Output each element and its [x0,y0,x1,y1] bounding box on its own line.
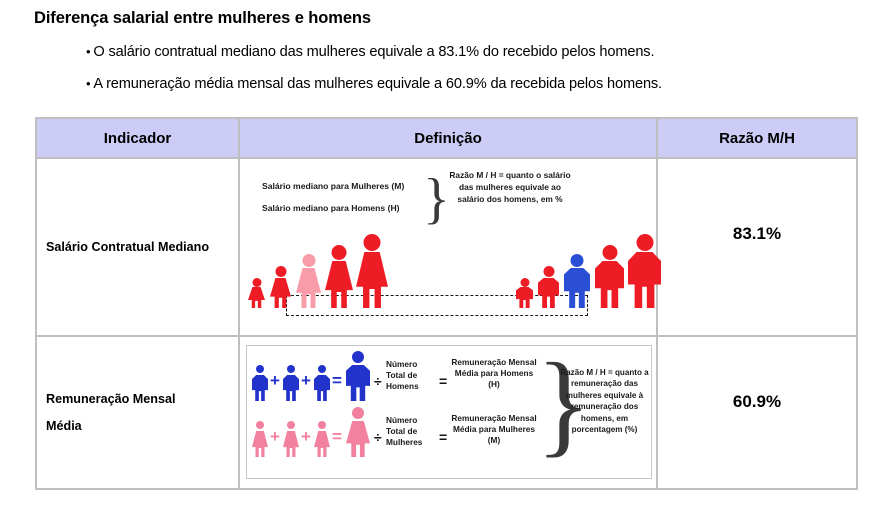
plus-operator: + [301,371,311,391]
men-figure-group [514,232,654,308]
equals-operator: = [332,371,342,391]
person-female-icon [314,421,330,457]
table-row: Remuneração Mensal Média + [37,337,856,488]
men-result-label: Remuneração Mensal Média para Homens (H) [451,357,537,391]
person-male-icon [628,234,661,308]
indicator-line-2: Média [46,413,176,439]
label-median-men: Salário mediano para Homens (H) [262,203,400,213]
ratio-explanation-note: Razão M / H = quanto a remuneração das m… [558,367,651,436]
cell-indicator-1: Salário Contratual Mediano [37,159,240,335]
column-header-indicador: Indicador [37,119,240,157]
equals-operator: = [439,429,447,445]
plus-operator: + [301,427,311,447]
person-female-icon [248,278,265,308]
list-item: •A remuneração média mensal das mulheres… [86,76,876,92]
slide-canvas: Diferença salarial entre mulheres e home… [0,0,877,506]
divide-operator: ÷ [374,429,382,445]
table-header-row: Indicador Definição Razão M/H [37,119,856,159]
person-female-icon [325,245,353,308]
person-male-icon [283,365,299,401]
indicator-line-1: Remuneração Mensal [46,386,176,412]
person-male-icon [314,365,330,401]
person-female-icon [270,266,291,308]
person-female-highlight-icon [296,254,321,308]
person-male-icon [538,266,559,308]
cell-ratio-2: 60.9% [658,337,856,488]
cell-ratio-1: 83.1% [658,159,856,335]
person-female-icon [252,421,268,457]
comparison-table: Indicador Definição Razão M/H Salário Co… [35,117,858,490]
cell-indicator-2: Remuneração Mensal Média [37,337,240,488]
plus-operator: + [270,371,280,391]
cell-definition-1: Salário mediano para Mulheres (M) Salári… [240,159,658,335]
equals-operator: = [439,373,447,389]
bullet-list: •O salário contratual mediano das mulher… [86,44,876,108]
brace-icon: } [423,172,435,232]
person-female-icon [356,234,388,308]
men-denominator-label: Número Total de Homens [386,359,436,393]
person-female-icon [283,421,299,457]
person-male-icon [595,245,624,308]
divide-operator: ÷ [374,373,382,389]
list-item: •O salário contratual mediano das mulher… [86,44,876,60]
plus-operator: + [270,427,280,447]
cell-definition-2: + + = ÷ Número Total de Homen [240,337,658,488]
label-median-women: Salário mediano para Mulheres (M) [262,181,404,191]
equals-operator: = [332,427,342,447]
women-denominator-label: Número Total de Mulheres [386,415,436,449]
column-header-definicao: Definição [240,119,658,157]
table-row: Salário Contratual Mediano Salário media… [37,159,856,337]
person-male-icon [516,278,533,308]
women-result-label: Remuneração Mensal Média para Mulheres (… [451,413,537,447]
person-female-total-icon [346,407,370,457]
person-male-total-icon [346,351,370,401]
bullet-text: A remuneração média mensal das mulheres … [93,76,662,92]
bullet-text: O salário contratual mediano das mulhere… [93,44,654,60]
column-header-razao: Razão M/H [658,119,856,157]
ratio-explanation-note: Razão M / H = quanto o salário das mulhe… [448,170,572,206]
median-salary-diagram: Salário mediano para Mulheres (M) Salári… [240,159,656,335]
person-male-icon [252,365,268,401]
women-figure-group [246,232,376,308]
average-pay-diagram: + + = ÷ Número Total de Homen [240,337,656,488]
page-title: Diferença salarial entre mulheres e home… [34,9,371,28]
person-male-highlight-icon [564,254,590,308]
